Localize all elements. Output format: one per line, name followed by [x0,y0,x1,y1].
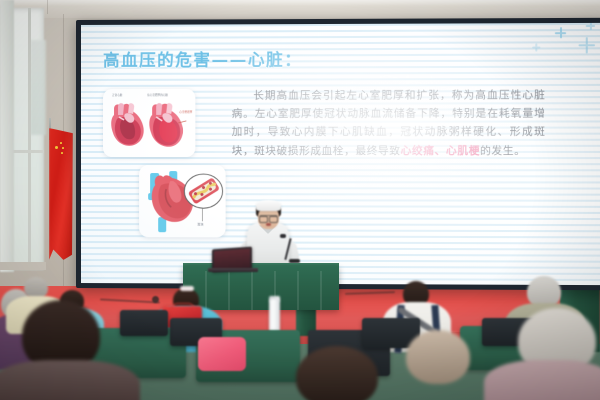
flag-star-icon [61,152,63,154]
plus-cross-icon [532,43,540,51]
presenter-nurse-cap [256,200,281,211]
desk-skirt-pleat [251,271,253,310]
ceiling-shadow [0,0,600,6]
figure-caption-right: 左心室肥厚的心脏 [147,93,168,97]
plaque-diagram-illustration [139,165,226,237]
wall-seam [47,0,48,14]
laptop-base [208,268,258,272]
audience-shoulders [484,360,600,400]
presenter-mouth [266,223,271,226]
stage-mic-stand [152,296,159,303]
desk-skirt-pleat [320,271,322,310]
desk-skirt-pleat [205,271,207,310]
plus-cross-icon [586,23,595,30]
hair-clip-icon [180,286,194,291]
white-thermos [269,299,280,333]
microphone-icon [280,234,286,238]
handbag-handle [171,303,195,310]
audience-head [406,330,470,384]
flag-star-icon [62,147,64,149]
window-frame-vertical [28,8,31,270]
eyeglasses-icon [259,215,278,221]
desk-skirt-pleat [297,271,299,310]
lecture-hall-photo: 高血压的危害——心脏： 长期高血压会引起左心室肥厚和扩张，称为高血压性心脏病。左… [0,0,600,400]
window-sill [0,262,46,270]
audience-head [296,346,378,400]
desk-skirt-pleat [228,271,230,310]
plus-cross-icon [555,27,566,38]
hypertrophic-heart-illustration [145,101,187,151]
figure-caption-left: 正常心脏 [112,93,122,97]
slide-title: 高血压的危害——心脏： [103,46,302,71]
audience-shoulders [0,360,140,400]
flag-star-icon [55,146,58,149]
flag-star-icon [60,142,62,144]
national-flag-icon [49,128,73,260]
figure-normal-vs-hypertrophic-heart: 正常心脏 左心室肥厚的心脏 心室壁增厚 [103,89,195,157]
projection-screen-bezel: 高血压的危害——心脏： 长期高血压会引起左心室肥厚和扩张，称为高血压性心脏病。左… [76,18,600,290]
figure-caption-plaque: 斑块 [197,222,203,226]
window-view-building [30,40,46,135]
projection-screen: 高血压的危害——心脏： 长期高血压会引起左心室肥厚和扩张，称为高血压性心脏病。左… [81,23,600,285]
pink-cloth [198,337,246,371]
chair [120,310,168,336]
plus-cross-icon [579,37,596,53]
slide-body-tail: 的发生。 [480,144,526,156]
slide-body-highlight: 心绞痛、心肌梗 [401,144,480,156]
normal-heart-illustration [108,101,148,151]
figure-heart-with-coronary-plaque: 斑块 [139,165,226,237]
slide-body-text: 长期高血压会引起左心室肥厚和扩张，称为高血压性心脏病。左心室肥厚使冠状动脉血流储… [232,86,546,160]
curtain [0,0,14,272]
